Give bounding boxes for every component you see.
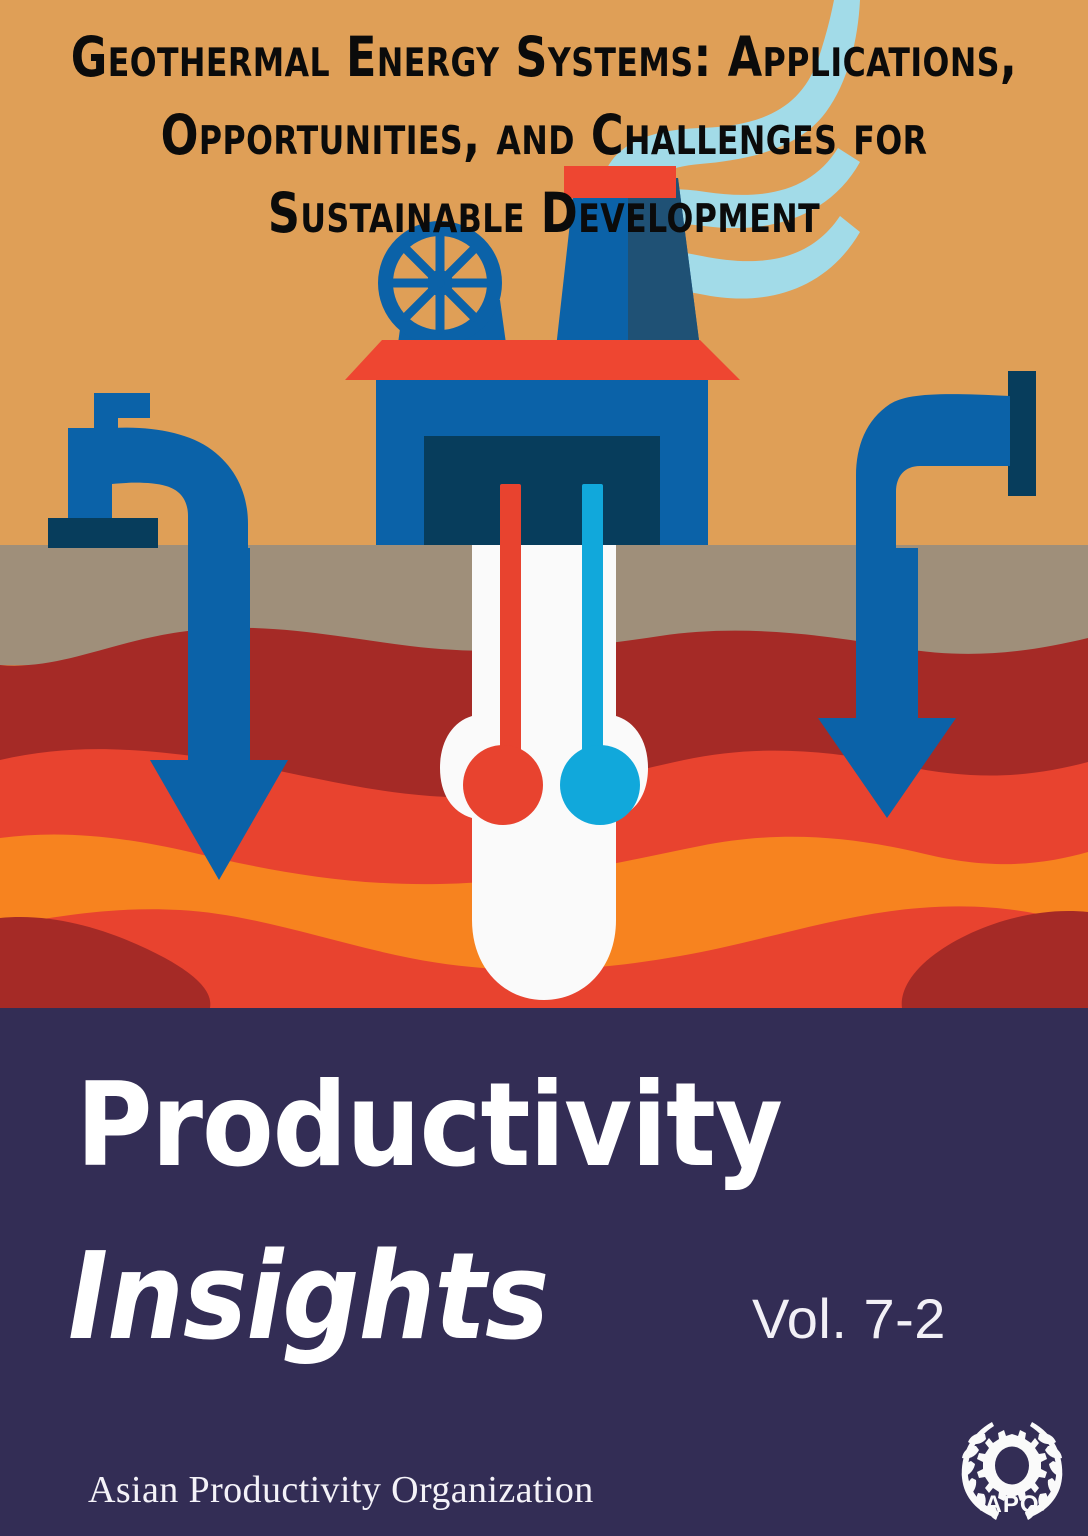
gear-inner-hole xyxy=(995,1447,1029,1485)
apo-logo: APO xyxy=(952,1412,1072,1524)
title-line-2: Opportunities, and Challenges for xyxy=(71,96,1018,174)
cold-fluid-marker xyxy=(560,745,640,825)
book-cover: Geothermal Energy Systems: Applications,… xyxy=(0,0,1088,1536)
plant-roof xyxy=(345,340,740,380)
wellhead-cap-right xyxy=(1008,371,1036,496)
series-subtitle: Insights xyxy=(68,1240,548,1356)
title-line-1: Geothermal Energy Systems: Applications, xyxy=(71,18,1018,96)
wellhead-base-left xyxy=(48,518,158,548)
series-title: Productivity xyxy=(76,1070,782,1182)
cover-bottom-band: Productivity Insights Vol. 7-2 Asian Pro… xyxy=(0,1008,1088,1536)
title-line-3: Sustainable Development xyxy=(71,174,1018,252)
organization-name: Asian Productivity Organization xyxy=(88,1468,594,1512)
hot-fluid-pipe xyxy=(500,484,521,752)
cold-fluid-pipe xyxy=(582,484,603,752)
volume-label: Vol. 7-2 xyxy=(752,1286,946,1351)
hot-fluid-marker xyxy=(463,745,543,825)
apo-wordmark: APO xyxy=(984,1491,1039,1518)
cover-title: Geothermal Energy Systems: Applications,… xyxy=(0,18,1088,252)
